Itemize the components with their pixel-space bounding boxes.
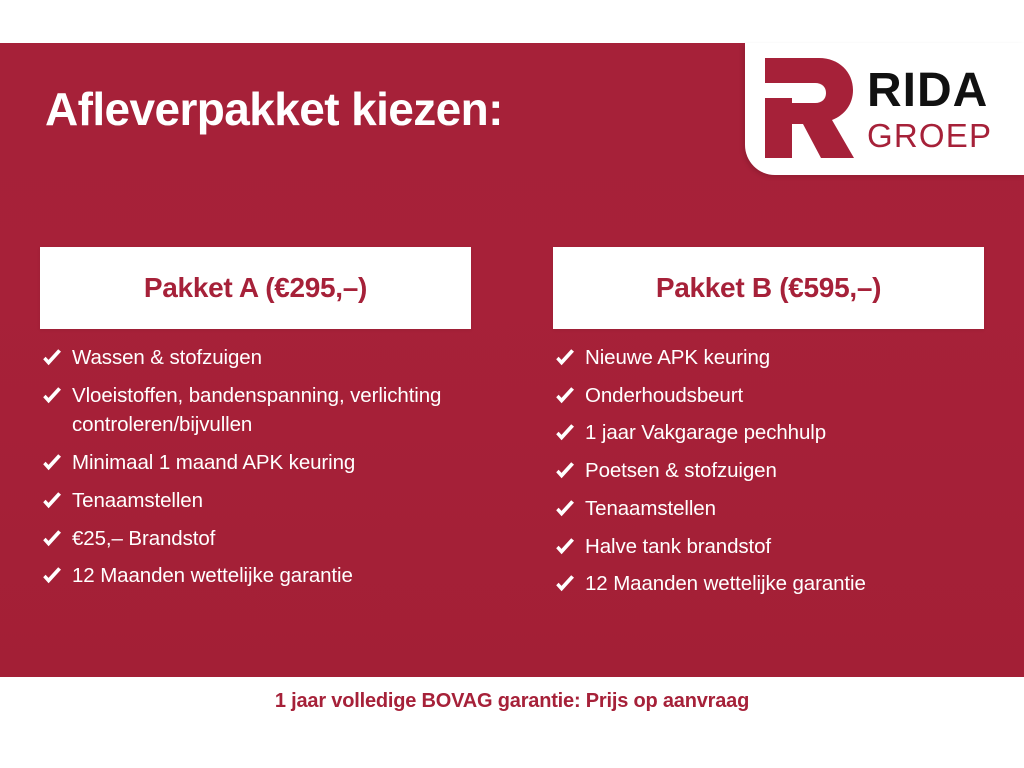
list-item: Wassen & stofzuigen (40, 343, 471, 373)
list-item-label: Wassen & stofzuigen (72, 343, 262, 373)
list-item-label: 12 Maanden wettelijke garantie (585, 569, 866, 599)
list-item: Halve tank brandstof (553, 532, 984, 562)
check-icon (40, 528, 64, 552)
footer-note: 1 jaar volledige BOVAG garantie: Prijs o… (275, 690, 749, 768)
check-icon (553, 460, 577, 484)
check-icon (553, 385, 577, 409)
list-item-label: 12 Maanden wettelijke garantie (72, 561, 353, 591)
list-item-label: Nieuwe APK keuring (585, 343, 770, 373)
list-item: Poetsen & stofzuigen (553, 456, 984, 486)
package-b-title: Pakket B (€595,–) (656, 272, 881, 304)
list-item: Vloeistoffen, bandenspanning, verlichtin… (40, 381, 471, 440)
logo-plate: RIDA GROEP (745, 43, 1024, 175)
package-a-title: Pakket A (€295,–) (144, 272, 367, 304)
slide-canvas: Afleverpakket kiezen: RIDA GROEP Pakket … (0, 0, 1024, 768)
check-icon (40, 565, 64, 589)
list-item: 1 jaar Vakgarage pechhulp (553, 418, 984, 448)
check-icon (553, 422, 577, 446)
logo: RIDA GROEP (745, 43, 1024, 175)
list-item-label: Tenaamstellen (72, 486, 203, 516)
list-item: Tenaamstellen (40, 486, 471, 516)
check-icon (40, 490, 64, 514)
list-item-label: €25,– Brandstof (72, 524, 215, 554)
package-column-a: Pakket A (€295,–) Wassen & stofzuigen Vl… (0, 247, 512, 607)
check-icon (40, 452, 64, 476)
check-icon (553, 498, 577, 522)
check-icon (40, 347, 64, 371)
logo-name-secondary: GROEP (867, 119, 992, 152)
logo-wordmark: RIDA GROEP (867, 67, 992, 152)
check-icon (553, 573, 577, 597)
list-item: €25,– Brandstof (40, 524, 471, 554)
list-item-label: Halve tank brandstof (585, 532, 771, 562)
check-icon (553, 347, 577, 371)
list-item-label: Tenaamstellen (585, 494, 716, 524)
logo-name-primary: RIDA (867, 67, 992, 115)
package-b-header-card[interactable]: Pakket B (€595,–) (553, 247, 984, 329)
list-item: Tenaamstellen (553, 494, 984, 524)
list-item-label: Minimaal 1 maand APK keuring (72, 448, 355, 478)
list-item-label: Poetsen & stofzuigen (585, 456, 777, 486)
list-item: Minimaal 1 maand APK keuring (40, 448, 471, 478)
footer-strip: 1 jaar volledige BOVAG garantie: Prijs o… (0, 677, 1024, 768)
rida-r-monogram-icon (759, 55, 855, 161)
list-item: Onderhoudsbeurt (553, 381, 984, 411)
list-item: 12 Maanden wettelijke garantie (553, 569, 984, 599)
page-title: Afleverpakket kiezen: (45, 82, 503, 136)
package-b-feature-list: Nieuwe APK keuring Onderhoudsbeurt 1 jaa… (553, 343, 984, 599)
packages-container: Pakket A (€295,–) Wassen & stofzuigen Vl… (0, 247, 1024, 607)
package-a-feature-list: Wassen & stofzuigen Vloeistoffen, banden… (40, 343, 471, 591)
list-item: 12 Maanden wettelijke garantie (40, 561, 471, 591)
list-item: Nieuwe APK keuring (553, 343, 984, 373)
list-item-label: Onderhoudsbeurt (585, 381, 743, 411)
list-item-label: 1 jaar Vakgarage pechhulp (585, 418, 826, 448)
check-icon (40, 385, 64, 409)
check-icon (553, 536, 577, 560)
package-a-header-card[interactable]: Pakket A (€295,–) (40, 247, 471, 329)
list-item-label: Vloeistoffen, bandenspanning, verlichtin… (72, 381, 471, 440)
package-column-b: Pakket B (€595,–) Nieuwe APK keuring Ond… (512, 247, 1024, 607)
